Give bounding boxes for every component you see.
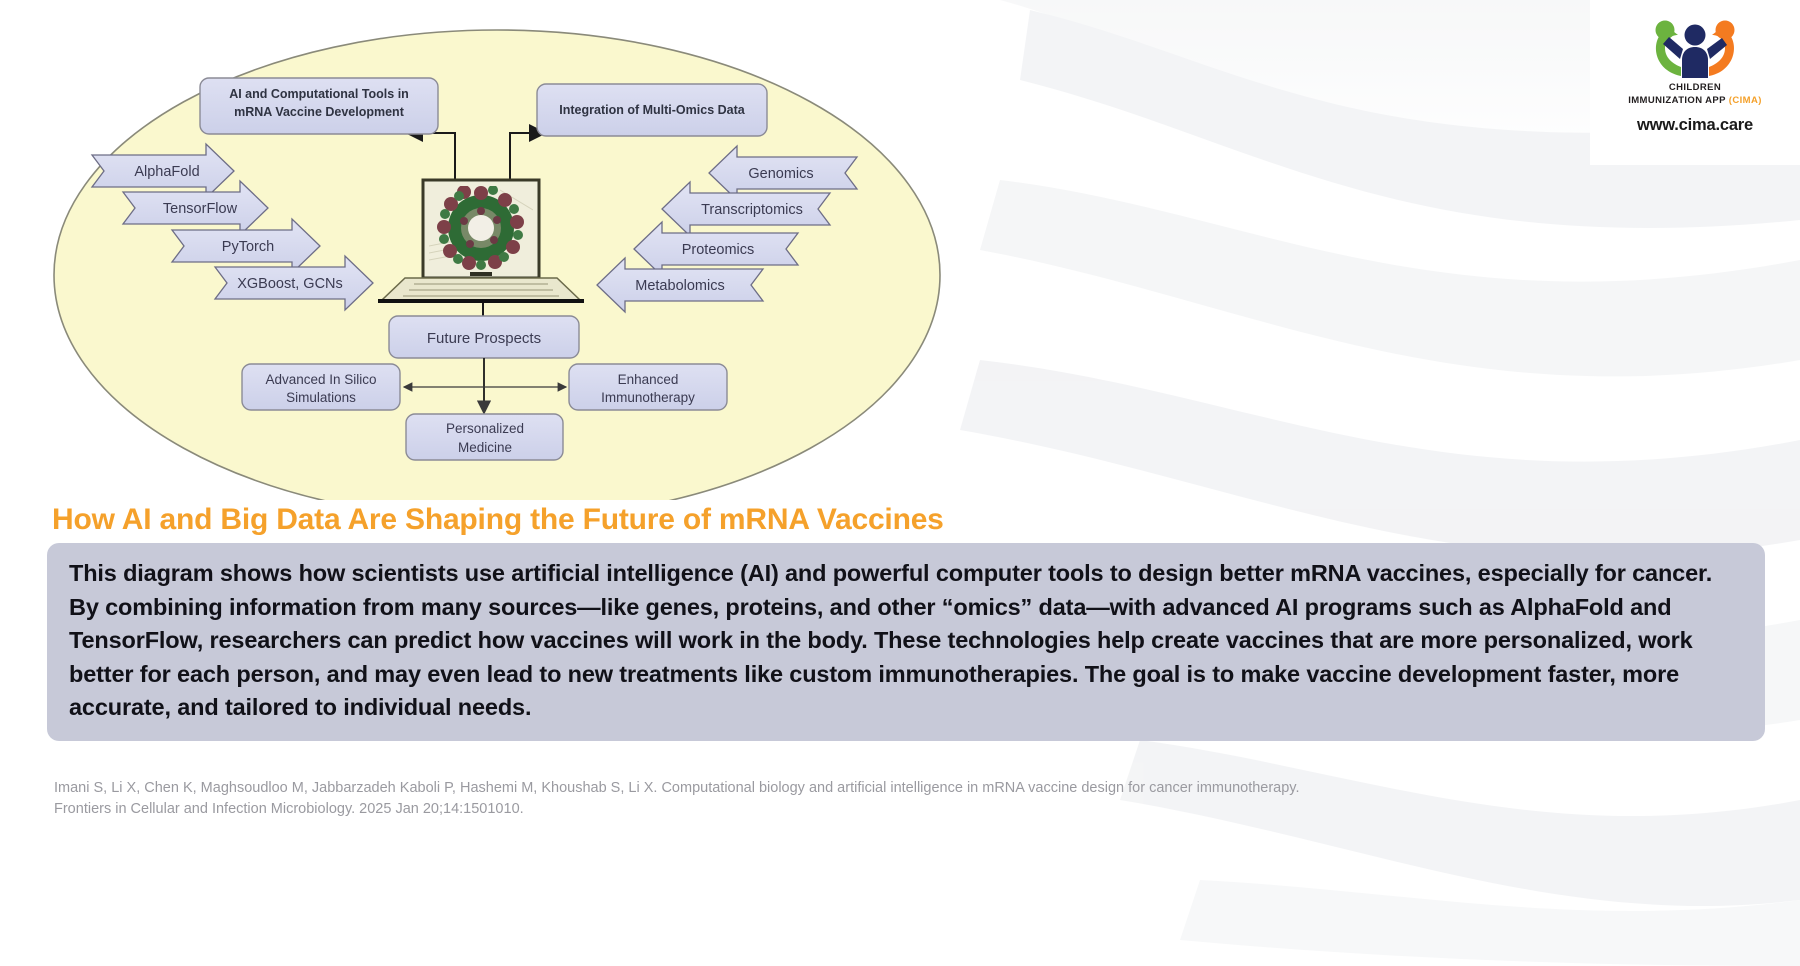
citation-line-2: Frontiers in Cellular and Infection Micr…: [54, 799, 1554, 820]
citation: Imani S, Li X, Chen K, Maghsoudloo M, Ja…: [54, 778, 1554, 820]
node-in-silico-line1: Advanced In Silico: [265, 372, 376, 387]
node-multi-omics-label: Integration of Multi-Omics Data: [559, 103, 745, 117]
diagram-node-multi-omics[interactable]: Integration of Multi-Omics Data: [537, 84, 767, 136]
diagram-node-personalized-medicine[interactable]: Personalized Medicine: [406, 414, 563, 460]
node-immunotherapy-line1: Enhanced: [618, 372, 679, 387]
node-personalized-line1: Personalized: [446, 421, 524, 436]
node-ai-tools-line2: mRNA Vaccine Development: [234, 105, 405, 119]
arrow-metabolomics-label: Metabolomics: [635, 278, 724, 294]
diagram-figure: AI and Computational Tools in mRNA Vacci…: [0, 0, 1000, 500]
page-title: How AI and Big Data Are Shaping the Futu…: [52, 503, 944, 537]
diagram-node-future-prospects[interactable]: Future Prospects: [389, 316, 579, 358]
cima-logo-icon: [1647, 14, 1743, 80]
node-in-silico-line2: Simulations: [286, 390, 356, 405]
node-personalized-line2: Medicine: [458, 440, 512, 455]
logo-name-text: IMMUNIZATION APP: [1628, 95, 1726, 106]
diagram-node-enhanced-immunotherapy[interactable]: Enhanced Immunotherapy: [569, 364, 727, 410]
logo-name-line-1: CHILDREN: [1590, 82, 1800, 95]
node-future-prospects-label: Future Prospects: [427, 330, 541, 347]
diagram-node-in-silico[interactable]: Advanced In Silico Simulations: [242, 364, 400, 410]
citation-line-1: Imani S, Li X, Chen K, Maghsoudloo M, Ja…: [54, 778, 1554, 799]
logo-name-line-2: IMMUNIZATION APP (CIMA): [1590, 95, 1800, 108]
arrow-tensorflow-label: TensorFlow: [163, 201, 238, 217]
logo-acronym: (CIMA): [1729, 95, 1762, 106]
arrow-genomics-label: Genomics: [748, 166, 813, 182]
arrow-transcriptomics-label: Transcriptomics: [701, 202, 803, 218]
node-ai-tools-line1: AI and Computational Tools in: [229, 87, 409, 101]
brand-logo-block[interactable]: CHILDREN IMMUNIZATION APP (CIMA) www.cim…: [1590, 0, 1800, 165]
summary-panel: This diagram shows how scientists use ar…: [47, 543, 1765, 741]
arrow-proteomics-label: Proteomics: [682, 242, 755, 258]
arrow-alphafold-label: AlphaFold: [134, 164, 199, 180]
node-immunotherapy-line2: Immunotherapy: [601, 390, 695, 405]
summary-text: This diagram shows how scientists use ar…: [69, 557, 1743, 725]
diagram-node-ai-tools[interactable]: AI and Computational Tools in mRNA Vacci…: [200, 78, 438, 134]
arrow-pytorch-label: PyTorch: [222, 239, 274, 255]
logo-website-url[interactable]: www.cima.care: [1590, 116, 1800, 135]
arrow-xgboost-label: XGBoost, GCNs: [237, 276, 343, 292]
